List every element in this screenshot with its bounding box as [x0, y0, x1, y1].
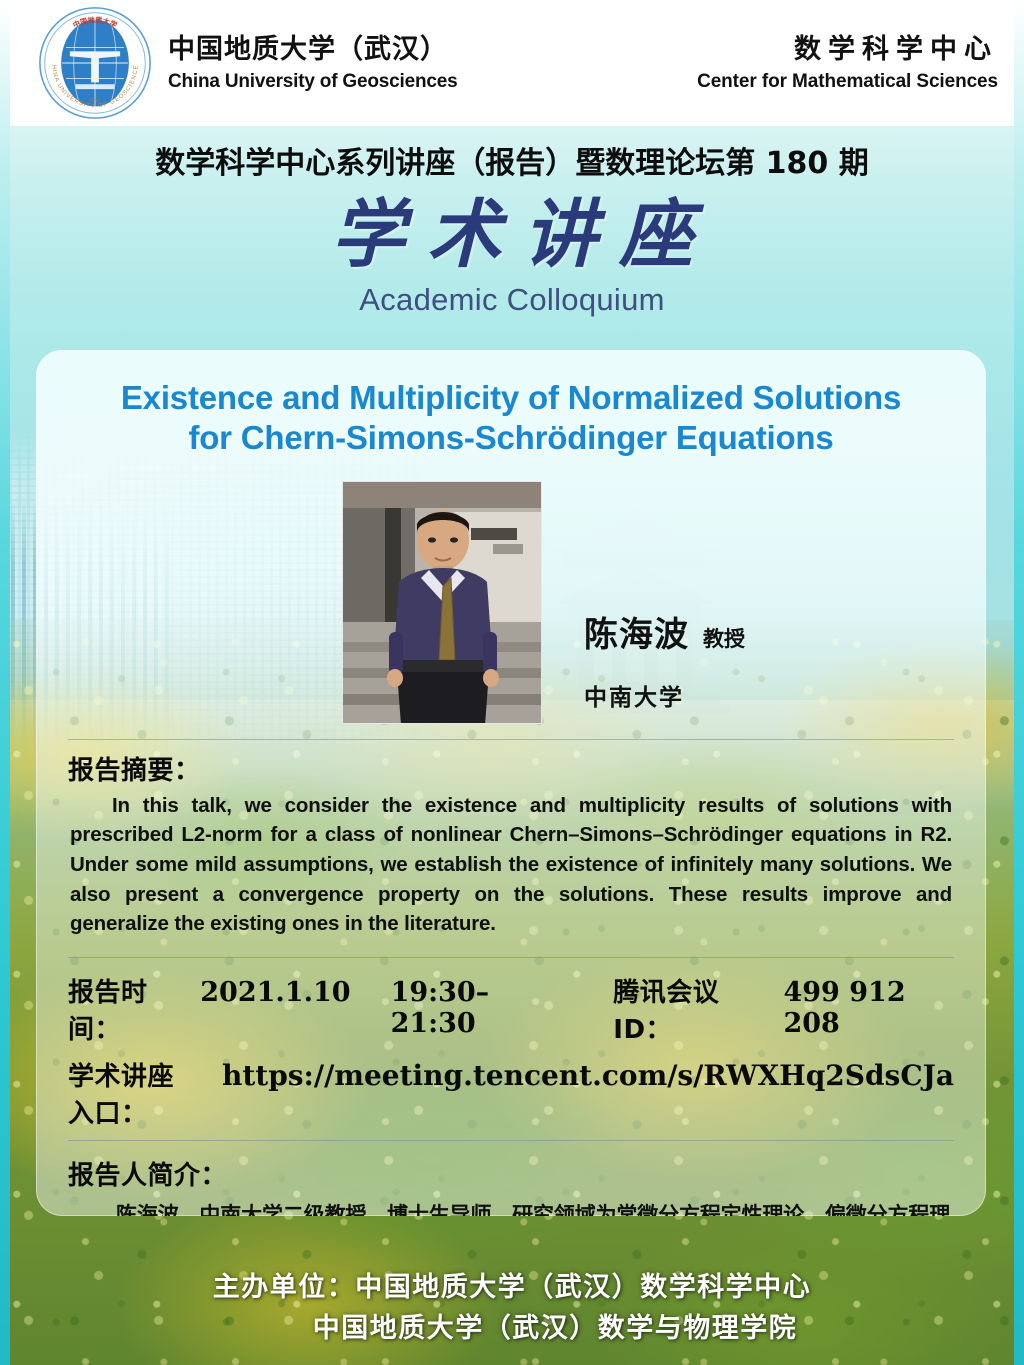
content-panel: Existence and Multiplicity of Normalized… — [36, 350, 986, 1216]
center-name-block: 数学科学中心 Center for Mathematical Sciences — [697, 33, 998, 93]
divider-above-abstract — [68, 739, 954, 740]
university-name-en: China University of Geosciences — [168, 71, 457, 93]
center-name-en: Center for Mathematical Sciences — [697, 71, 998, 93]
footer-organizer-line-2: 中国地质大学（武汉）数学与物理学院 — [0, 1309, 1024, 1350]
university-name-block: 中国地质大学（武汉） China University of Geoscienc… — [168, 33, 457, 93]
speaker-affiliation: 中南大学 — [584, 678, 745, 712]
brush-calligraphy-title: 学术讲座 — [0, 196, 1024, 276]
speaker-row: 陈海波 教授 中南大学 — [64, 481, 958, 729]
meeting-time-label: 报告时间： — [68, 972, 188, 1046]
subtitle-english: Academic Colloquium — [0, 282, 1024, 318]
university-name-cn: 中国地质大学（武汉） — [168, 33, 457, 67]
speaker-photo — [342, 481, 542, 724]
speaker-info: 陈海波 教授 中南大学 — [584, 481, 745, 712]
abstract-body: In this talk, we consider the existence … — [70, 791, 952, 940]
paper-title-line-2: for Chern-Simons-Schrödinger Equations — [74, 418, 948, 458]
speaker-name-row: 陈海波 教授 — [584, 607, 745, 656]
poster-header: 1952 中国地质大学 CHINA UNIVERSITY OF GEOSCIEN… — [0, 0, 1024, 126]
poster-footer: 主办单位：中国地质大学（武汉）数学科学中心 中国地质大学（武汉）数学与物理学院 — [0, 1268, 1024, 1349]
divider-above-meeting — [68, 957, 954, 958]
bio-heading: 报告人简介： — [68, 1155, 958, 1192]
left-edge-strip — [0, 0, 10, 1365]
university-seal-logo-icon: 1952 中国地质大学 CHINA UNIVERSITY OF GEOSCIEN… — [36, 4, 154, 122]
meeting-entry-url[interactable]: https://meeting.tencent.com/s/RWXHq2SdsC… — [222, 1059, 954, 1092]
bio-body: 陈海波，中南大学二级教授、博士生导师。研究领域为常微分方程定性理论、偏微分方程理… — [70, 1198, 950, 1216]
divider-above-bio — [68, 1140, 954, 1141]
series-line: 数学科学中心系列讲座（报告）暨数理论坛第 180 期 — [0, 138, 1024, 182]
center-name-cn: 数学科学中心 — [697, 33, 998, 67]
paper-title-line-1: Existence and Multiplicity of Normalized… — [74, 378, 948, 418]
meeting-time-line: 报告时间： 2021.1.10 19:30–21:30 腾讯会议 ID： 499… — [68, 972, 954, 1046]
meeting-id-value: 499 912 208 — [783, 977, 954, 1039]
abstract-heading: 报告摘要： — [68, 750, 958, 787]
svg-text:1952: 1952 — [90, 98, 101, 104]
footer-organizer-line-1: 主办单位：中国地质大学（武汉）数学科学中心 — [0, 1268, 1024, 1309]
poster-root: 1952 中国地质大学 CHINA UNIVERSITY OF GEOSCIEN… — [0, 0, 1024, 1365]
meeting-date: 2021.1.10 — [200, 977, 350, 1008]
right-edge-strip — [1014, 0, 1024, 1365]
speaker-rank: 教授 — [703, 623, 745, 653]
meeting-time-range: 19:30–21:30 — [391, 977, 558, 1039]
paper-title: Existence and Multiplicity of Normalized… — [64, 372, 958, 459]
meeting-id-label: 腾讯会议 ID： — [613, 972, 771, 1046]
meeting-entry-line: 学术讲座入口： https://meeting.tencent.com/s/RW… — [68, 1056, 954, 1130]
title-block: 数学科学中心系列讲座（报告）暨数理论坛第 180 期 学术讲座 Academic… — [0, 126, 1024, 318]
meeting-entry-label: 学术讲座入口： — [68, 1056, 196, 1130]
meeting-block: 报告时间： 2021.1.10 19:30–21:30 腾讯会议 ID： 499… — [68, 972, 954, 1130]
speaker-name: 陈海波 — [584, 607, 689, 656]
